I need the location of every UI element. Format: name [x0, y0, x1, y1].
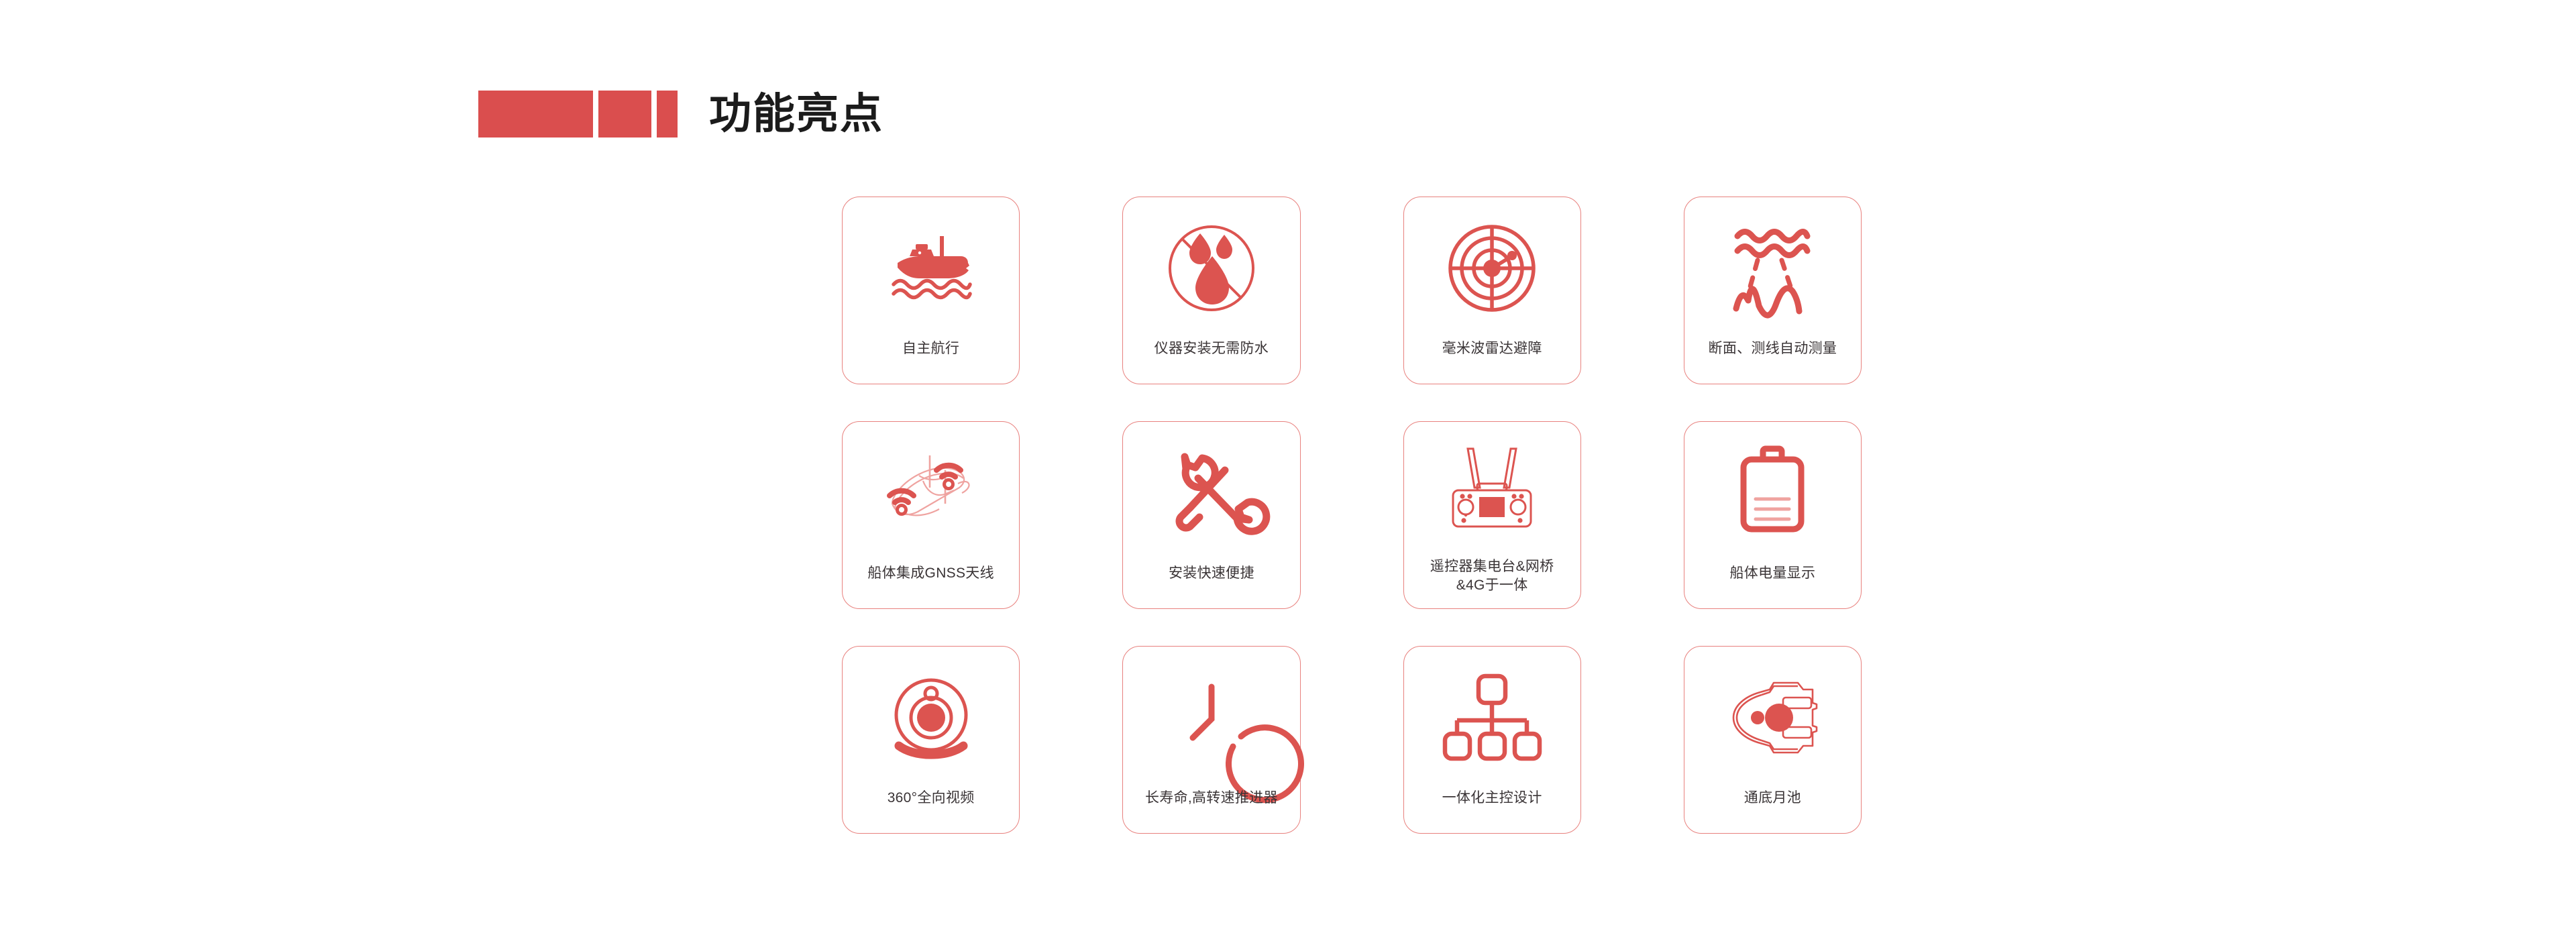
feature-card[interactable]: 仪器安装无需防水	[1122, 197, 1300, 384]
feature-card-label: 通底月池	[1684, 789, 1861, 808]
card-row-3: 360°全向视频 长寿命,高转速推进器	[842, 646, 1862, 834]
page-title: 功能亮点	[709, 93, 883, 135]
feature-card-label: 仪器安装无需防水	[1123, 339, 1299, 358]
feature-card[interactable]: 一体化主控设计	[1403, 646, 1581, 834]
radar-target-icon	[1438, 215, 1546, 322]
card-row-1: 自主航行 仪器安装无需防水	[842, 197, 1862, 384]
boat-gnss-antenna-icon	[877, 439, 985, 547]
feature-card-label: 360°全向视频	[843, 789, 1019, 808]
feature-card[interactable]: 船体电量显示	[1684, 421, 1862, 609]
battery-icon	[1719, 439, 1826, 547]
feature-card[interactable]: 毫米波雷达避障	[1403, 197, 1581, 384]
card-row-2: 船体集成GNSS天线 安装快速便捷	[842, 421, 1862, 609]
feature-card[interactable]: 船体集成GNSS天线	[842, 421, 1020, 609]
hull-moonpool-icon	[1719, 664, 1826, 771]
feature-card-label: 遥控器集电台&网桥 &4G于一体	[1404, 557, 1580, 594]
clock-icon	[1158, 664, 1265, 771]
accent-bar-narrow	[657, 91, 678, 137]
accent-bar-group	[478, 91, 683, 137]
feature-card[interactable]: 遥控器集电台&网桥 &4G于一体	[1403, 421, 1581, 609]
feature-card-label: 安装快速便捷	[1123, 564, 1299, 583]
feature-card-label: 自主航行	[843, 339, 1019, 358]
sonar-profile-icon	[1719, 215, 1826, 322]
feature-card-label: 船体电量显示	[1684, 564, 1861, 583]
feature-card-label: 长寿命,高转速推进器	[1123, 789, 1299, 808]
feature-card[interactable]: 自主航行	[842, 197, 1020, 384]
feature-card-label: 断面、测线自动测量	[1684, 339, 1861, 358]
feature-card-grid: 自主航行 仪器安装无需防水	[842, 197, 1862, 834]
accent-bar-medium	[598, 91, 651, 137]
feature-card-label: 毫米波雷达避障	[1404, 339, 1580, 358]
feature-card[interactable]: 安装快速便捷	[1122, 421, 1300, 609]
feature-card[interactable]: 长寿命,高转速推进器	[1122, 646, 1300, 834]
feature-card[interactable]: 通底月池	[1684, 646, 1862, 834]
page-header: 功能亮点	[478, 79, 883, 149]
no-waterproof-needed-icon	[1158, 215, 1265, 322]
feature-card-label: 船体集成GNSS天线	[843, 564, 1019, 583]
hierarchy-icon	[1438, 664, 1546, 771]
wrench-screwdriver-icon	[1158, 439, 1265, 547]
feature-card[interactable]: 360°全向视频	[842, 646, 1020, 834]
ship-on-waves-icon	[877, 215, 985, 322]
accent-bar-wide	[478, 91, 593, 137]
feature-card-label: 一体化主控设计	[1404, 789, 1580, 808]
webcam-icon	[877, 664, 985, 771]
feature-card[interactable]: 断面、测线自动测量	[1684, 197, 1862, 384]
remote-controller-icon	[1438, 439, 1546, 547]
